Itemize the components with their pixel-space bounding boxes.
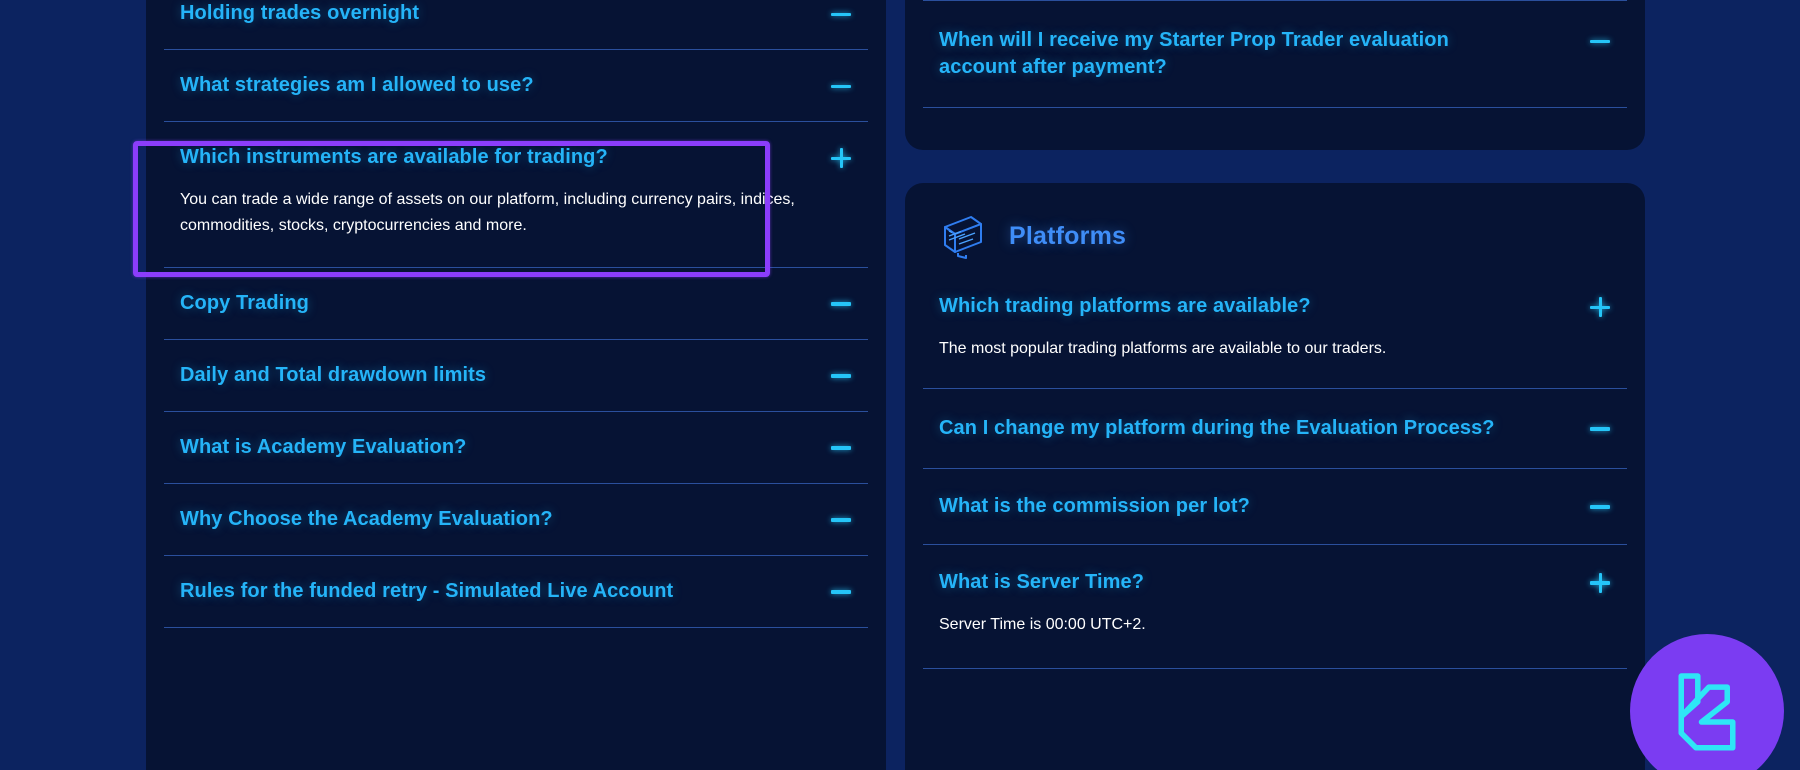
minus-icon[interactable] bbox=[1589, 30, 1611, 52]
platforms-card: Platforms Which trading platforms are av… bbox=[905, 183, 1645, 770]
faq-header[interactable]: Why Choose the Academy Evaluation? bbox=[180, 506, 852, 533]
brand-logo-button[interactable] bbox=[1630, 634, 1784, 770]
plus-icon[interactable] bbox=[1589, 572, 1611, 594]
faq-item[interactable]: Rules for the funded retry - Simulated L… bbox=[164, 555, 868, 627]
faq-header[interactable]: Holding trades overnight bbox=[180, 0, 852, 27]
faq-item[interactable]: Copy Trading bbox=[164, 267, 868, 339]
minus-icon[interactable] bbox=[830, 293, 852, 315]
faq-header[interactable]: What is the commission per lot? bbox=[939, 493, 1611, 520]
minus-icon[interactable] bbox=[830, 437, 852, 459]
faq-card-left: Holding trades overnight What strategies… bbox=[146, 0, 886, 770]
faq-header[interactable]: What strategies am I allowed to use? bbox=[180, 72, 852, 99]
faq-question: What is Server Time? bbox=[939, 569, 1144, 596]
faq-item[interactable]: What is the commission per lot? bbox=[923, 468, 1627, 544]
monitor-icon bbox=[939, 213, 987, 259]
faq-header[interactable]: What is Academy Evaluation? bbox=[180, 434, 852, 461]
faq-question: What strategies am I allowed to use? bbox=[180, 72, 534, 99]
minus-icon[interactable] bbox=[1589, 496, 1611, 518]
faq-question: What is the commission per lot? bbox=[939, 493, 1250, 520]
faq-header[interactable]: Which instruments are available for trad… bbox=[180, 144, 852, 171]
faq-question: What is Academy Evaluation? bbox=[180, 434, 466, 461]
faq-question: Which instruments are available for trad… bbox=[180, 144, 608, 171]
faq-question: Daily and Total drawdown limits bbox=[180, 362, 486, 389]
faq-item-expanded[interactable]: Which instruments are available for trad… bbox=[164, 121, 868, 267]
faq-item[interactable]: Holding trades overnight bbox=[164, 0, 868, 49]
faq-item[interactable]: Can I change my platform during the Eval… bbox=[923, 388, 1627, 468]
faq-question: Copy Trading bbox=[180, 290, 309, 317]
brand-logo-icon bbox=[1661, 665, 1753, 757]
faq-question: Holding trades overnight bbox=[180, 0, 419, 27]
page-root: Holding trades overnight What strategies… bbox=[0, 0, 1800, 770]
minus-icon[interactable] bbox=[830, 509, 852, 531]
faq-header[interactable]: Which trading platforms are available? bbox=[939, 293, 1611, 320]
platforms-title: Platforms bbox=[1009, 222, 1126, 251]
minus-icon[interactable] bbox=[830, 581, 852, 603]
faq-question: Rules for the funded retry - Simulated L… bbox=[180, 578, 673, 605]
faq-item-expanded[interactable]: What is Server Time? Server Time is 00:0… bbox=[923, 544, 1627, 668]
faq-header[interactable]: When will I receive my Starter Prop Trad… bbox=[939, 27, 1611, 81]
faq-question: When will I receive my Starter Prop Trad… bbox=[939, 27, 1499, 81]
faq-answer: You can trade a wide range of assets on … bbox=[180, 187, 820, 239]
faq-card-right-top: When will I receive my Starter Prop Trad… bbox=[905, 0, 1645, 150]
faq-item-expanded[interactable]: Which trading platforms are available? T… bbox=[923, 269, 1627, 388]
faq-question: Which trading platforms are available? bbox=[939, 293, 1311, 320]
minus-icon[interactable] bbox=[830, 365, 852, 387]
plus-icon[interactable] bbox=[1589, 296, 1611, 318]
faq-item[interactable]: What strategies am I allowed to use? bbox=[164, 49, 868, 121]
faq-question: Can I change my platform during the Eval… bbox=[939, 415, 1495, 442]
platforms-section-header: Platforms bbox=[923, 183, 1627, 269]
minus-icon[interactable] bbox=[1589, 418, 1611, 440]
faq-card-right-top-inner: When will I receive my Starter Prop Trad… bbox=[923, 0, 1627, 108]
faq-item[interactable]: When will I receive my Starter Prop Trad… bbox=[923, 1, 1627, 107]
faq-header[interactable]: Can I change my platform during the Eval… bbox=[939, 415, 1611, 442]
faq-answer: The most popular trading platforms are a… bbox=[939, 336, 1579, 362]
minus-icon[interactable] bbox=[830, 75, 852, 97]
divider bbox=[923, 107, 1627, 108]
faq-item[interactable]: Daily and Total drawdown limits bbox=[164, 339, 868, 411]
divider bbox=[923, 668, 1627, 669]
faq-answer: Server Time is 00:00 UTC+2. bbox=[939, 612, 1579, 638]
divider bbox=[164, 627, 868, 628]
faq-header[interactable]: Daily and Total drawdown limits bbox=[180, 362, 852, 389]
faq-header[interactable]: Rules for the funded retry - Simulated L… bbox=[180, 578, 852, 605]
faq-header[interactable]: What is Server Time? bbox=[939, 569, 1611, 596]
faq-question: Why Choose the Academy Evaluation? bbox=[180, 506, 553, 533]
faq-header[interactable]: Copy Trading bbox=[180, 290, 852, 317]
minus-icon[interactable] bbox=[830, 3, 852, 25]
plus-icon[interactable] bbox=[830, 147, 852, 169]
faq-item[interactable]: Why Choose the Academy Evaluation? bbox=[164, 483, 868, 555]
faq-item[interactable]: What is Academy Evaluation? bbox=[164, 411, 868, 483]
